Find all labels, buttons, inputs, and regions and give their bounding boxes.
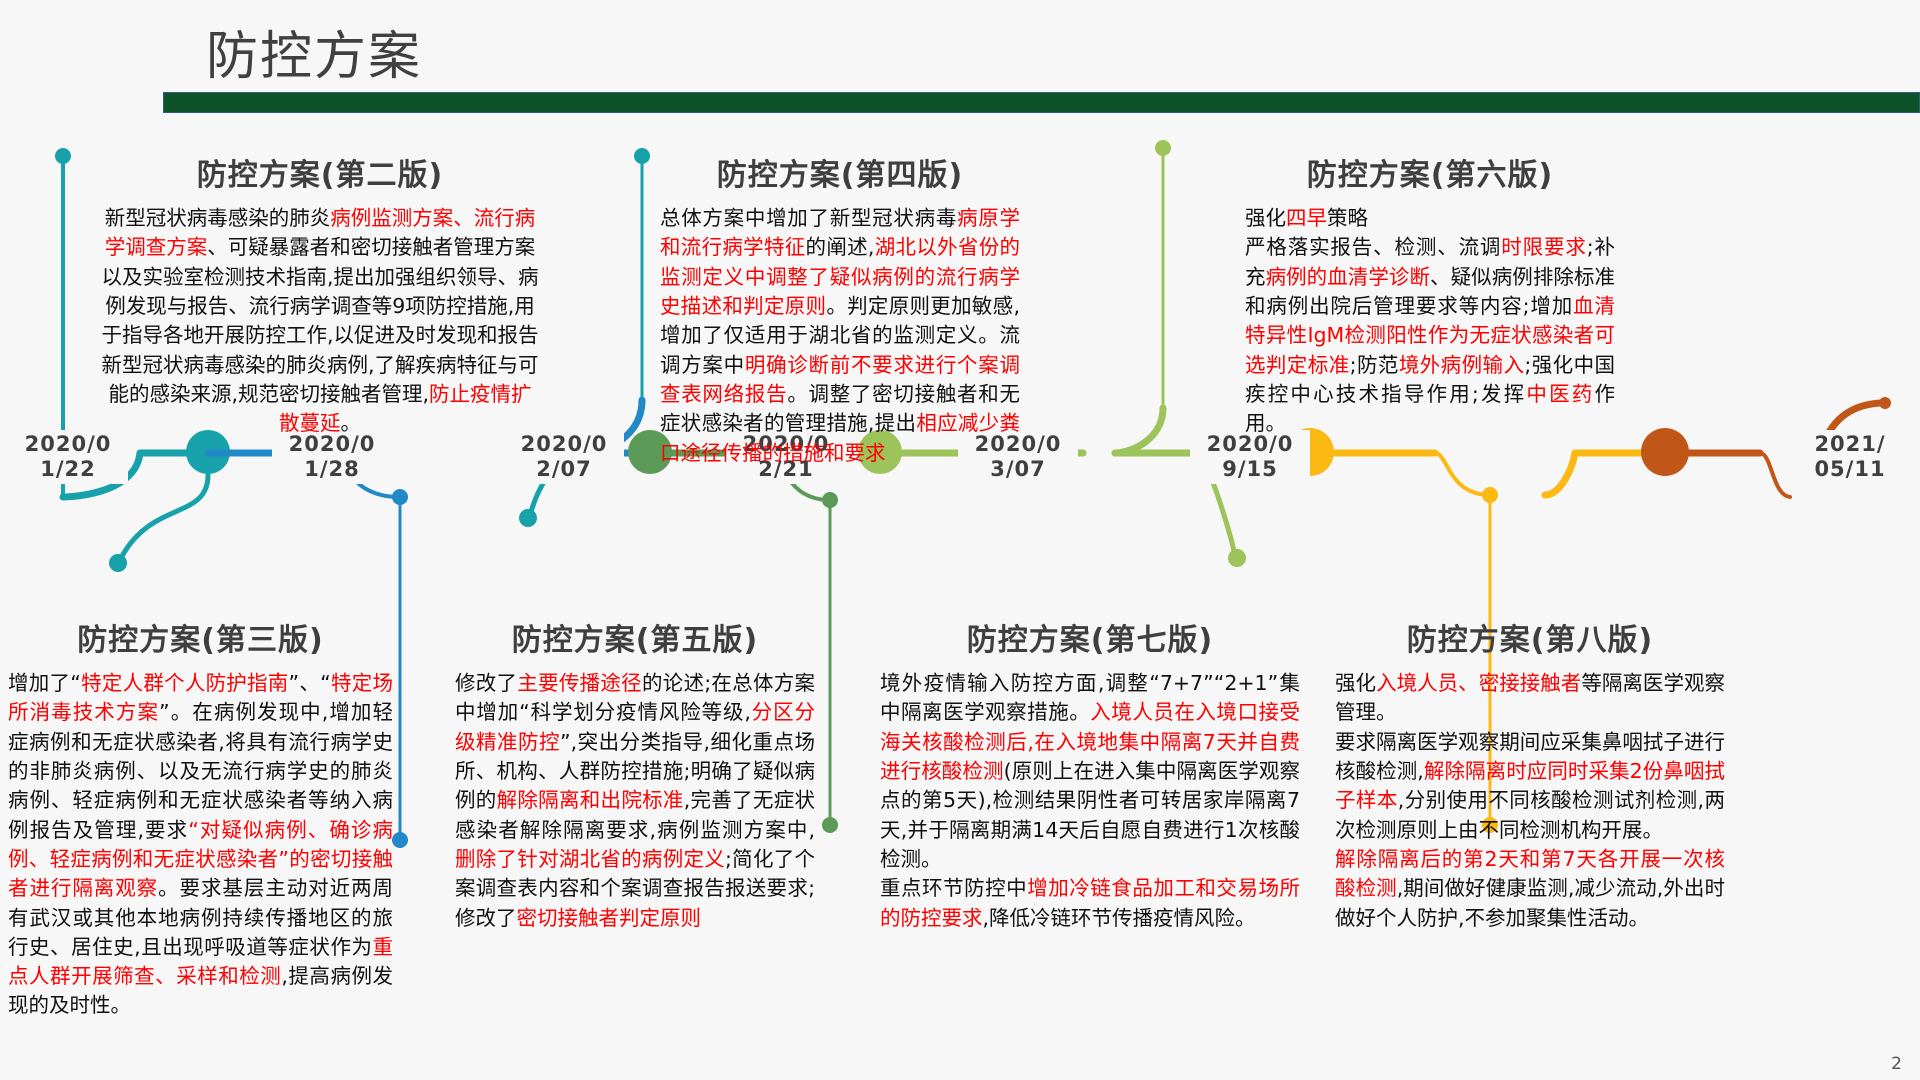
version-body-v5: 修改了主要传播途径的论述;在总体方案中增加“科学划分疫情风险等级,分区分级精准防… — [455, 669, 815, 933]
title-underline-bar — [163, 92, 1920, 113]
version-body-v6: 强化四早策略严格落实报告、检测、流调时限要求;补充病例的血清学诊断、疑似病例排除… — [1245, 204, 1615, 439]
paragraph: 修改了主要传播途径的论述;在总体方案中增加“科学划分疫情风险等级,分区分级精准防… — [455, 669, 815, 933]
paragraph: 重点环节防控中增加冷链食品加工和交易场所的防控要求,降低冷链环节传播疫情风险。 — [880, 874, 1300, 933]
date-label-7: 2021/05/11 — [1795, 430, 1905, 484]
version-block-v8: 防控方案(第八版) 强化入境人员、密接接触者等隔离医学观察管理。要求隔离医学观察… — [1335, 615, 1725, 933]
version-block-v2: 防控方案(第二版) 新型冠状病毒感染的肺炎病例监测方案、流行病学调查方案、可疑暴… — [100, 150, 540, 439]
version-block-v5: 防控方案(第五版) 修改了主要传播途径的论述;在总体方案中增加“科学划分疫情风险… — [455, 615, 815, 933]
version-title-v4: 防控方案(第四版) — [660, 150, 1020, 194]
version-title-v5: 防控方案(第五版) — [455, 615, 815, 659]
paragraph: 严格落实报告、检测、流调时限要求;补充病例的血清学诊断、疑似病例排除标准和病例出… — [1245, 233, 1615, 438]
version-body-v3: 增加了“特定人群个人防护指南”、“特定场所消毒技术方案”。在病例发现中,增加轻症… — [8, 669, 393, 1021]
paragraph: 新型冠状病毒感染的肺炎病例监测方案、流行病学调查方案、可疑暴露者和密切接触者管理… — [100, 204, 540, 439]
paragraph: 增加了“特定人群个人防护指南”、“特定场所消毒技术方案”。在病例发现中,增加轻症… — [8, 669, 393, 1021]
paragraph: 强化入境人员、密接接触者等隔离医学观察管理。 — [1335, 669, 1725, 728]
version-block-v3: 防控方案(第三版) 增加了“特定人群个人防护指南”、“特定场所消毒技术方案”。在… — [8, 615, 393, 1021]
version-title-v7: 防控方案(第七版) — [880, 615, 1300, 659]
page-number: 2 — [1891, 1054, 1902, 1074]
paragraph: 要求隔离医学观察期间应采集鼻咽拭子进行核酸检测,解除隔离时应同时采集2份鼻咽拭子… — [1335, 728, 1725, 845]
version-body-v8: 强化入境人员、密接接触者等隔离医学观察管理。要求隔离医学观察期间应采集鼻咽拭子进… — [1335, 669, 1725, 933]
version-title-v2: 防控方案(第二版) — [100, 150, 540, 194]
version-block-v6: 防控方案(第六版) 强化四早策略严格落实报告、检测、流调时限要求;补充病例的血清… — [1245, 150, 1615, 439]
paragraph: 强化四早策略 — [1245, 204, 1615, 233]
version-title-v8: 防控方案(第八版) — [1335, 615, 1725, 659]
paragraph: 解除隔离后的第2天和第7天各开展一次核酸检测,期间做好健康监测,减少流动,外出时… — [1335, 845, 1725, 933]
paragraph: 境外疫情输入防控方面,调整“7+7”“2+1”集中隔离医学观察措施。入境人员在入… — [880, 669, 1300, 874]
version-block-v4: 防控方案(第四版) 总体方案中增加了新型冠状病毒病原学和流行病学特征的阐述,湖北… — [660, 150, 1020, 468]
version-body-v4: 总体方案中增加了新型冠状病毒病原学和流行病学特征的阐述,湖北以外省份的监测定义中… — [660, 204, 1020, 468]
version-body-v7: 境外疫情输入防控方面,调整“7+7”“2+1”集中隔离医学观察措施。入境人员在入… — [880, 669, 1300, 933]
version-title-v6: 防控方案(第六版) — [1245, 150, 1615, 194]
paragraph: 总体方案中增加了新型冠状病毒病原学和流行病学特征的阐述,湖北以外省份的监测定义中… — [660, 204, 1020, 468]
slide-root: 防控方案 — [0, 0, 1920, 1080]
version-body-v2: 新型冠状病毒感染的肺炎病例监测方案、流行病学调查方案、可疑暴露者和密切接触者管理… — [100, 204, 540, 439]
version-block-v7: 防控方案(第七版) 境外疫情输入防控方面,调整“7+7”“2+1”集中隔离医学观… — [880, 615, 1300, 933]
page-title: 防控方案 — [206, 14, 422, 89]
version-title-v3: 防控方案(第三版) — [8, 615, 393, 659]
